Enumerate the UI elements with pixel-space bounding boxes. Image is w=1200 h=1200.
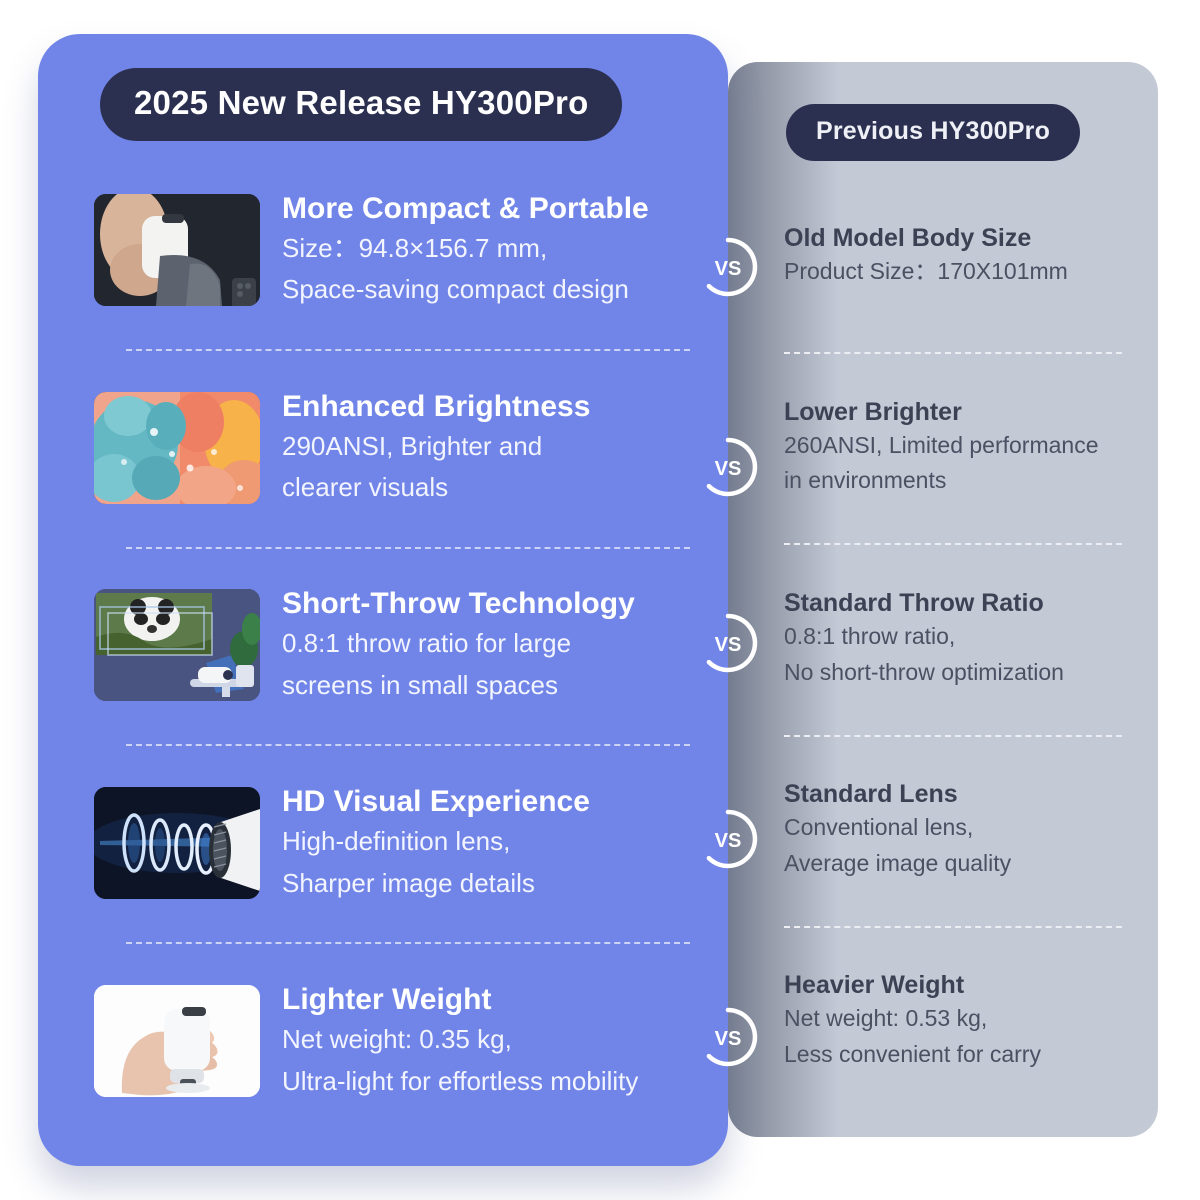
vs-badge: VS [697, 612, 759, 674]
previous-feature-title: Lower Brighter [784, 397, 1126, 428]
vs-badge-label: VS [715, 634, 742, 656]
previous-feature-title: Standard Throw Ratio [784, 588, 1126, 619]
new-feature-line: 290ANSI, Brighter and [282, 426, 698, 468]
vs-badge: VS [697, 236, 759, 298]
previous-model-badge: Previous HY300Pro [786, 104, 1080, 161]
new-release-feature-list: More Compact & Portable Size：94.8×156.7 … [66, 151, 708, 1140]
new-feature-row: Lighter Weight Net weight: 0.35 kg, Ultr… [66, 942, 708, 1140]
vs-badge: VS [697, 1006, 759, 1068]
new-feature-row: Short-Throw Technology 0.8:1 throw ratio… [66, 547, 708, 745]
previous-feature-line: 0.8:1 throw ratio, [784, 619, 1126, 655]
vs-badge-label: VS [715, 830, 742, 852]
new-feature-line: Ultra-light for effortless mobility [282, 1061, 698, 1103]
previous-feature-line: Net weight: 0.53 kg, [784, 1001, 1126, 1037]
new-feature-line: Size：94.8×156.7 mm, [282, 228, 698, 270]
previous-feature-line: Conventional lens, [784, 810, 1126, 846]
new-feature-row: Enhanced Brightness 290ANSI, Brighter an… [66, 349, 708, 547]
new-feature-title: More Compact & Portable [282, 189, 698, 228]
previous-feature-line: No short-throw optimization [784, 655, 1126, 691]
colorful-glossy-flowers-photo [94, 392, 260, 504]
new-feature-row: More Compact & Portable Size：94.8×156.7 … [66, 151, 708, 349]
exploded-lens-elements-photo [94, 787, 260, 899]
vs-badge-label: VS [715, 1028, 742, 1050]
previous-feature-line: Product Size：170X101mm [784, 254, 1126, 290]
previous-feature-line: in environments [784, 463, 1126, 499]
new-feature-row: HD Visual Experience High-definition len… [66, 744, 708, 942]
previous-feature-title: Heavier Weight [784, 970, 1126, 1001]
projector-panda-screen-photo [94, 589, 260, 701]
new-feature-line: Net weight: 0.35 kg, [282, 1019, 698, 1061]
new-feature-line: High-definition lens, [282, 821, 698, 863]
vs-badge: VS [697, 436, 759, 498]
new-feature-line: Sharper image details [282, 863, 698, 905]
comparison-infographic: Previous HY300Pro Old Model Body Size Pr… [0, 0, 1200, 1200]
vs-badge-label: VS [715, 458, 742, 480]
previous-feature-line: 260ANSI, Limited performance [784, 428, 1126, 464]
new-feature-line: screens in small spaces [282, 665, 698, 707]
previous-feature-row: Heavier Weight Net weight: 0.53 kg, Less… [784, 926, 1132, 1117]
previous-feature-row: Standard Lens Conventional lens, Average… [784, 735, 1132, 926]
new-feature-title: Lighter Weight [282, 980, 698, 1019]
new-release-panel: 2025 New Release HY300Pro [38, 34, 728, 1166]
previous-feature-title: Standard Lens [784, 779, 1126, 810]
vs-badge-label: VS [715, 258, 742, 280]
new-feature-line: 0.8:1 throw ratio for large [282, 623, 698, 665]
previous-feature-row: Old Model Body Size Product Size：170X101… [784, 161, 1132, 352]
new-feature-line: Space-saving compact design [282, 269, 698, 311]
previous-feature-row: Standard Throw Ratio 0.8:1 throw ratio, … [784, 543, 1132, 734]
previous-feature-row: Lower Brighter 260ANSI, Limited performa… [784, 352, 1132, 543]
previous-feature-line: Average image quality [784, 846, 1126, 882]
new-feature-title: HD Visual Experience [282, 782, 698, 821]
previous-model-panel: Previous HY300Pro Old Model Body Size Pr… [728, 62, 1158, 1137]
new-feature-line: clearer visuals [282, 467, 698, 509]
previous-feature-title: Old Model Body Size [784, 223, 1126, 254]
vs-badge: VS [697, 808, 759, 870]
new-feature-title: Enhanced Brightness [282, 387, 698, 426]
projector-in-backpack-photo [94, 194, 260, 306]
previous-feature-line: Less convenient for carry [784, 1037, 1126, 1073]
hand-holding-projector-photo [94, 985, 260, 1097]
new-release-badge: 2025 New Release HY300Pro [100, 68, 622, 141]
new-feature-title: Short-Throw Technology [282, 584, 698, 623]
previous-model-feature-list: Old Model Body Size Product Size：170X101… [784, 161, 1132, 1117]
